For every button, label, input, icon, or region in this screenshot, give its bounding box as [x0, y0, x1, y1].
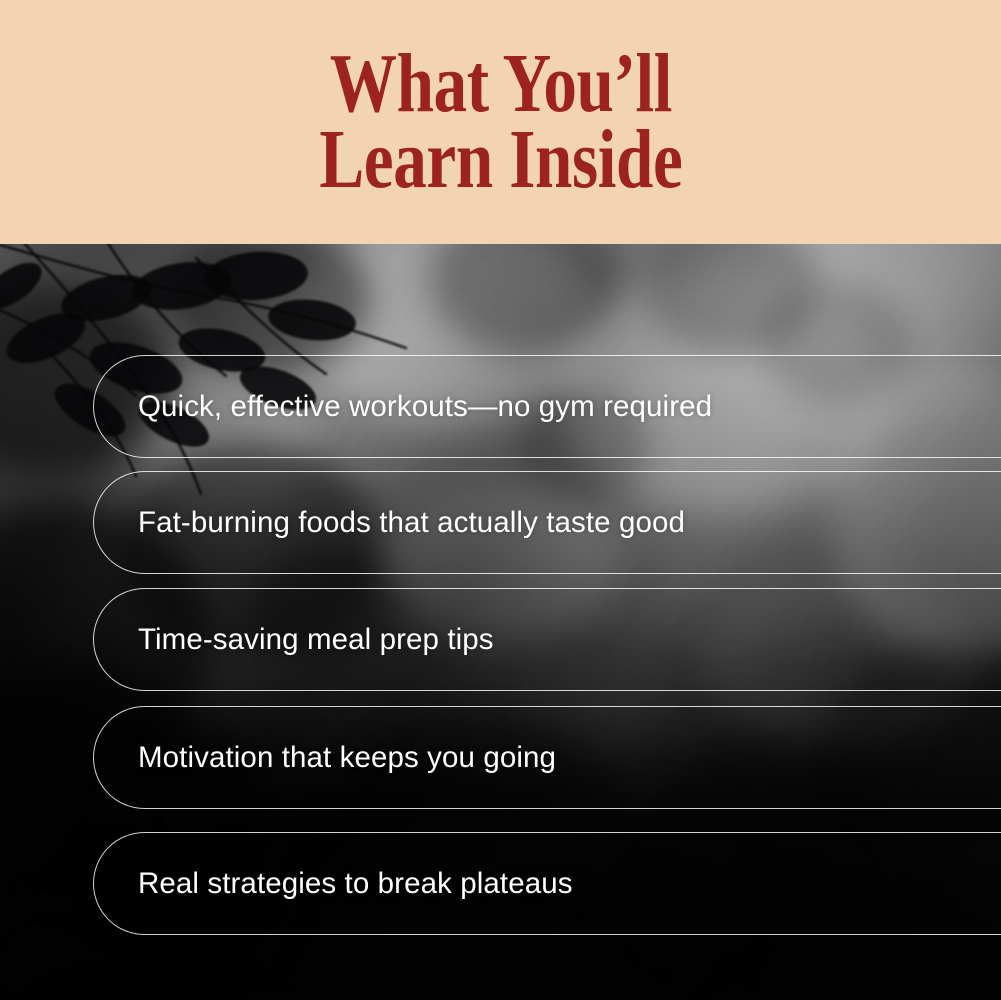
list-item[interactable]: Time-saving meal prep tips — [93, 588, 1001, 691]
list-item[interactable]: Motivation that keeps you going — [93, 706, 1001, 809]
list-item-label: Real strategies to break plateaus — [138, 867, 573, 901]
list-item-label: Fat-burning foods that actually taste go… — [138, 506, 685, 540]
list-item[interactable]: Real strategies to break plateaus — [93, 832, 1001, 935]
list-item-label: Motivation that keeps you going — [138, 741, 556, 775]
list-item[interactable]: Fat-burning foods that actually taste go… — [93, 471, 1001, 574]
list-item-label: Quick, effective workouts—no gym require… — [138, 390, 712, 424]
promo-card: What You’ll Learn Inside — [0, 0, 1001, 1000]
benefits-list: Quick, effective workouts—no gym require… — [0, 0, 1001, 1000]
list-item-label: Time-saving meal prep tips — [138, 623, 494, 657]
list-item[interactable]: Quick, effective workouts—no gym require… — [93, 355, 1001, 458]
